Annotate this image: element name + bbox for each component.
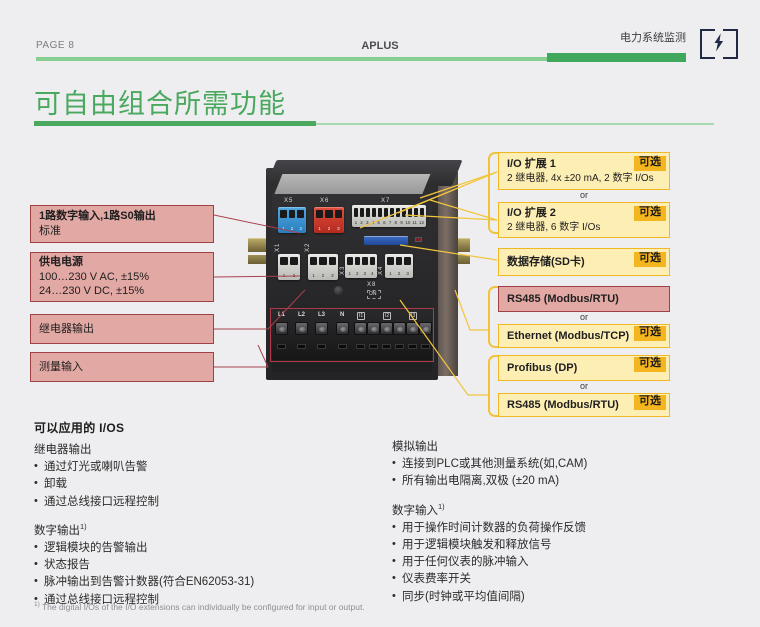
io-group-heading: 数字输出: [34, 525, 80, 537]
callout-io-extension-1[interactable]: I/O 扩展 1 2 继电器, 4x ±20 mA, 2 数字 I/Os 可选: [498, 152, 670, 190]
terminal-label-x1: X1: [275, 243, 281, 252]
footnote-text: The digital I/Os of the I/O extensions c…: [40, 602, 365, 612]
list-item: 脉冲输出到告警计数器(符合EN62053-31): [34, 574, 374, 591]
connector-x2: 123: [308, 254, 338, 280]
connector-x5-pins: 123: [280, 226, 304, 233]
connector-x4: 123: [385, 254, 413, 278]
list-item: 状态报告: [34, 557, 374, 574]
list-item: 通过总线接口远程控制: [34, 494, 374, 511]
list-item: 用于任何仪表的脉冲输入: [392, 554, 742, 571]
section-title-label: 电力系统监测: [620, 29, 686, 45]
io-group-heading-wrap: 数字输入1): [392, 502, 742, 518]
connector-x6-slots: [316, 210, 342, 218]
io-group-relay-output: 继电器输出 通过灯光或喇叭告警 卸载 通过总线接口远程控制: [34, 441, 374, 511]
lightning-bolt-icon: [714, 34, 725, 55]
status-badge-optional: 可选: [634, 326, 666, 341]
connector-x7-pins: 123456789101112: [354, 220, 424, 227]
title-underline: [34, 121, 316, 126]
list-item: 逻辑模块的告警输出: [34, 540, 374, 557]
callout-rs485-modbus-rtu-standard[interactable]: RS485 (Modbus/RTU): [498, 286, 670, 312]
page-root: PAGE 8 APLUS 电力系统监测 可自由组合所需功能 X5 X6 X7: [0, 0, 760, 627]
callout-line: 2 继电器, 6 数字 I/Os: [507, 221, 661, 234]
io-group-analog-output: 模拟输出 连接到PLC或其他测量系统(如,CAM) 所有输出电隔离,双极 (±2…: [392, 438, 742, 491]
separator-or: or: [498, 190, 670, 200]
io-group-digital-input: 数字输入1) 用于操作时间计数器的负荷操作反馈 用于逻辑模块触发和释放信号 用于…: [392, 502, 742, 606]
device-side: [438, 172, 458, 376]
dip-switch-x8: ON: [367, 290, 381, 299]
list-item: 所有输出电隔离,双极 (±20 mA): [392, 473, 742, 490]
connector-x3: 1234: [345, 254, 377, 278]
callout-line: 24…230 V DC, ±15%: [39, 284, 205, 299]
page-title: 可自由组合所需功能: [34, 82, 286, 121]
io-group-items: 用于操作时间计数器的负荷操作反馈 用于逻辑模块触发和释放信号 用于任何仪表的脉冲…: [392, 520, 742, 606]
connector-x3-slots: [347, 257, 375, 265]
connector-x6: 123: [314, 207, 344, 233]
connector-x3-pins: 1234: [347, 271, 375, 278]
logo-notch-top: [715, 28, 723, 31]
terminal-label-x8: X8: [367, 282, 376, 288]
status-led: [415, 237, 422, 242]
connector-x4-slots: [387, 257, 411, 265]
callout-digital-input-s0-output[interactable]: 1路数字输入,1路S0输出 标准: [30, 205, 214, 243]
callout-ethernet-modbus-tcp[interactable]: Ethernet (Modbus/TCP) 可选: [498, 324, 670, 348]
footnote-marker: 1): [80, 522, 87, 531]
callout-line: 标准: [39, 224, 205, 239]
connector-x1-pins: 12: [280, 273, 298, 280]
footnote-marker: 1): [438, 502, 445, 511]
terminal-label-x7: X7: [381, 198, 390, 204]
status-badge-optional: 可选: [634, 156, 666, 171]
callout-profibus-dp[interactable]: Profibus (DP) 可选: [498, 355, 670, 381]
terminal-label-x6: X6: [320, 198, 329, 204]
list-item: 卸载: [34, 476, 374, 493]
connector-x7-slots: [354, 208, 424, 217]
callout-line: 2 继电器, 4x ±20 mA, 2 数字 I/Os: [507, 172, 661, 185]
io-group-items: 逻辑模块的告警输出 状态报告 脉冲输出到告警计数器(符合EN62053-31) …: [34, 540, 374, 609]
title-underline-thin: [316, 123, 714, 125]
connector-x5-slots: [280, 210, 304, 218]
sd-card-slot: [364, 236, 408, 245]
io-list-right-column: 模拟输出 连接到PLC或其他测量系统(如,CAM) 所有输出电隔离,双极 (±2…: [392, 438, 742, 617]
callout-line: 100…230 V AC, ±15%: [39, 270, 205, 285]
io-group-heading: 继电器输出: [34, 441, 374, 457]
callout-relay-output[interactable]: 继电器输出: [30, 314, 214, 344]
page-footnote: 1) The digital I/Os of the I/O extension…: [34, 601, 365, 612]
brand-logo: [700, 29, 738, 59]
connector-x5: 123: [278, 207, 306, 233]
list-item: 仪表费率开关: [392, 571, 742, 588]
terminal-label-x4: X4: [378, 266, 384, 275]
terminal-label-x2: X2: [305, 243, 311, 252]
connector-x1: 12: [278, 254, 300, 280]
callout-power-supply[interactable]: 供电电源 100…230 V AC, ±15% 24…230 V DC, ±15…: [30, 252, 214, 302]
group-bracket-rs485-ethernet: [488, 286, 498, 348]
callout-measurement-input[interactable]: 测量输入: [30, 352, 214, 382]
mounting-hole: [334, 286, 343, 295]
io-list-left-column: 可以应用的 I/OS 继电器输出 通过灯光或喇叭告警 卸载 通过总线接口远程控制…: [34, 419, 374, 620]
io-section-heading: 可以应用的 I/OS: [34, 419, 374, 436]
connector-x2-pins: 123: [310, 273, 336, 280]
terminal-label-x5: X5: [284, 198, 293, 204]
status-badge-optional: 可选: [634, 395, 666, 410]
connector-x1-slots: [280, 257, 298, 265]
callout-title: 测量输入: [39, 360, 205, 375]
io-group-items: 通过灯光或喇叭告警 卸载 通过总线接口远程控制: [34, 459, 374, 511]
group-bracket-io: [488, 152, 498, 234]
separator-or: or: [498, 381, 670, 391]
io-group-digital-output: 数字输出1) 逻辑模块的告警输出 状态报告 脉冲输出到告警计数器(符合EN620…: [34, 522, 374, 609]
io-group-items: 连接到PLC或其他测量系统(如,CAM) 所有输出电隔离,双极 (±20 mA): [392, 456, 742, 491]
connector-x6-pins: 123: [316, 226, 342, 233]
separator-or: or: [498, 312, 670, 322]
callout-data-storage-sd[interactable]: 数据存储(SD卡) 可选: [498, 248, 670, 276]
status-badge-optional: 可选: [634, 357, 666, 372]
connector-x7: 123456789101112: [352, 205, 426, 227]
status-badge-optional: 可选: [634, 252, 666, 267]
device-rating-label: [274, 174, 431, 196]
device-photo: X5 X6 X7 X1 X2 X3 X4 123 123 12345678910…: [248, 160, 470, 392]
list-item: 连接到PLC或其他测量系统(如,CAM): [392, 456, 742, 473]
measurement-input-highlight: [270, 308, 434, 362]
io-group-heading-wrap: 数字输出1): [34, 522, 374, 538]
group-bracket-profibus-rs485: [488, 355, 498, 417]
list-item: 用于操作时间计数器的负荷操作反馈: [392, 520, 742, 537]
io-group-heading: 模拟输出: [392, 438, 742, 454]
callout-title: 继电器输出: [39, 322, 205, 337]
callout-title: 1路数字输入,1路S0输出: [39, 209, 205, 224]
callout-io-extension-2[interactable]: I/O 扩展 2 2 继电器, 6 数字 I/Os 可选: [498, 202, 670, 238]
io-group-heading: 数字输入: [392, 505, 438, 517]
header-rule-accent: [547, 53, 686, 62]
list-item: 通过灯光或喇叭告警: [34, 459, 374, 476]
status-badge-optional: 可选: [634, 206, 666, 221]
callout-rs485-modbus-rtu-optional[interactable]: RS485 (Modbus/RTU) 可选: [498, 393, 670, 417]
list-item: 同步(时钟或平均值间隔): [392, 589, 742, 606]
logo-notch-bottom: [715, 57, 723, 60]
callout-title: 供电电源: [39, 255, 205, 270]
page-header: PAGE 8 APLUS 电力系统监测: [0, 24, 760, 70]
list-item: 用于逻辑模块触发和释放信号: [392, 537, 742, 554]
callout-title: RS485 (Modbus/RTU): [507, 292, 661, 307]
lightning-bolt-svg: [714, 34, 725, 52]
connector-x2-slots: [310, 257, 336, 265]
connector-x4-pins: 123: [387, 271, 411, 278]
dip-switch-on-label: ON: [369, 291, 377, 297]
